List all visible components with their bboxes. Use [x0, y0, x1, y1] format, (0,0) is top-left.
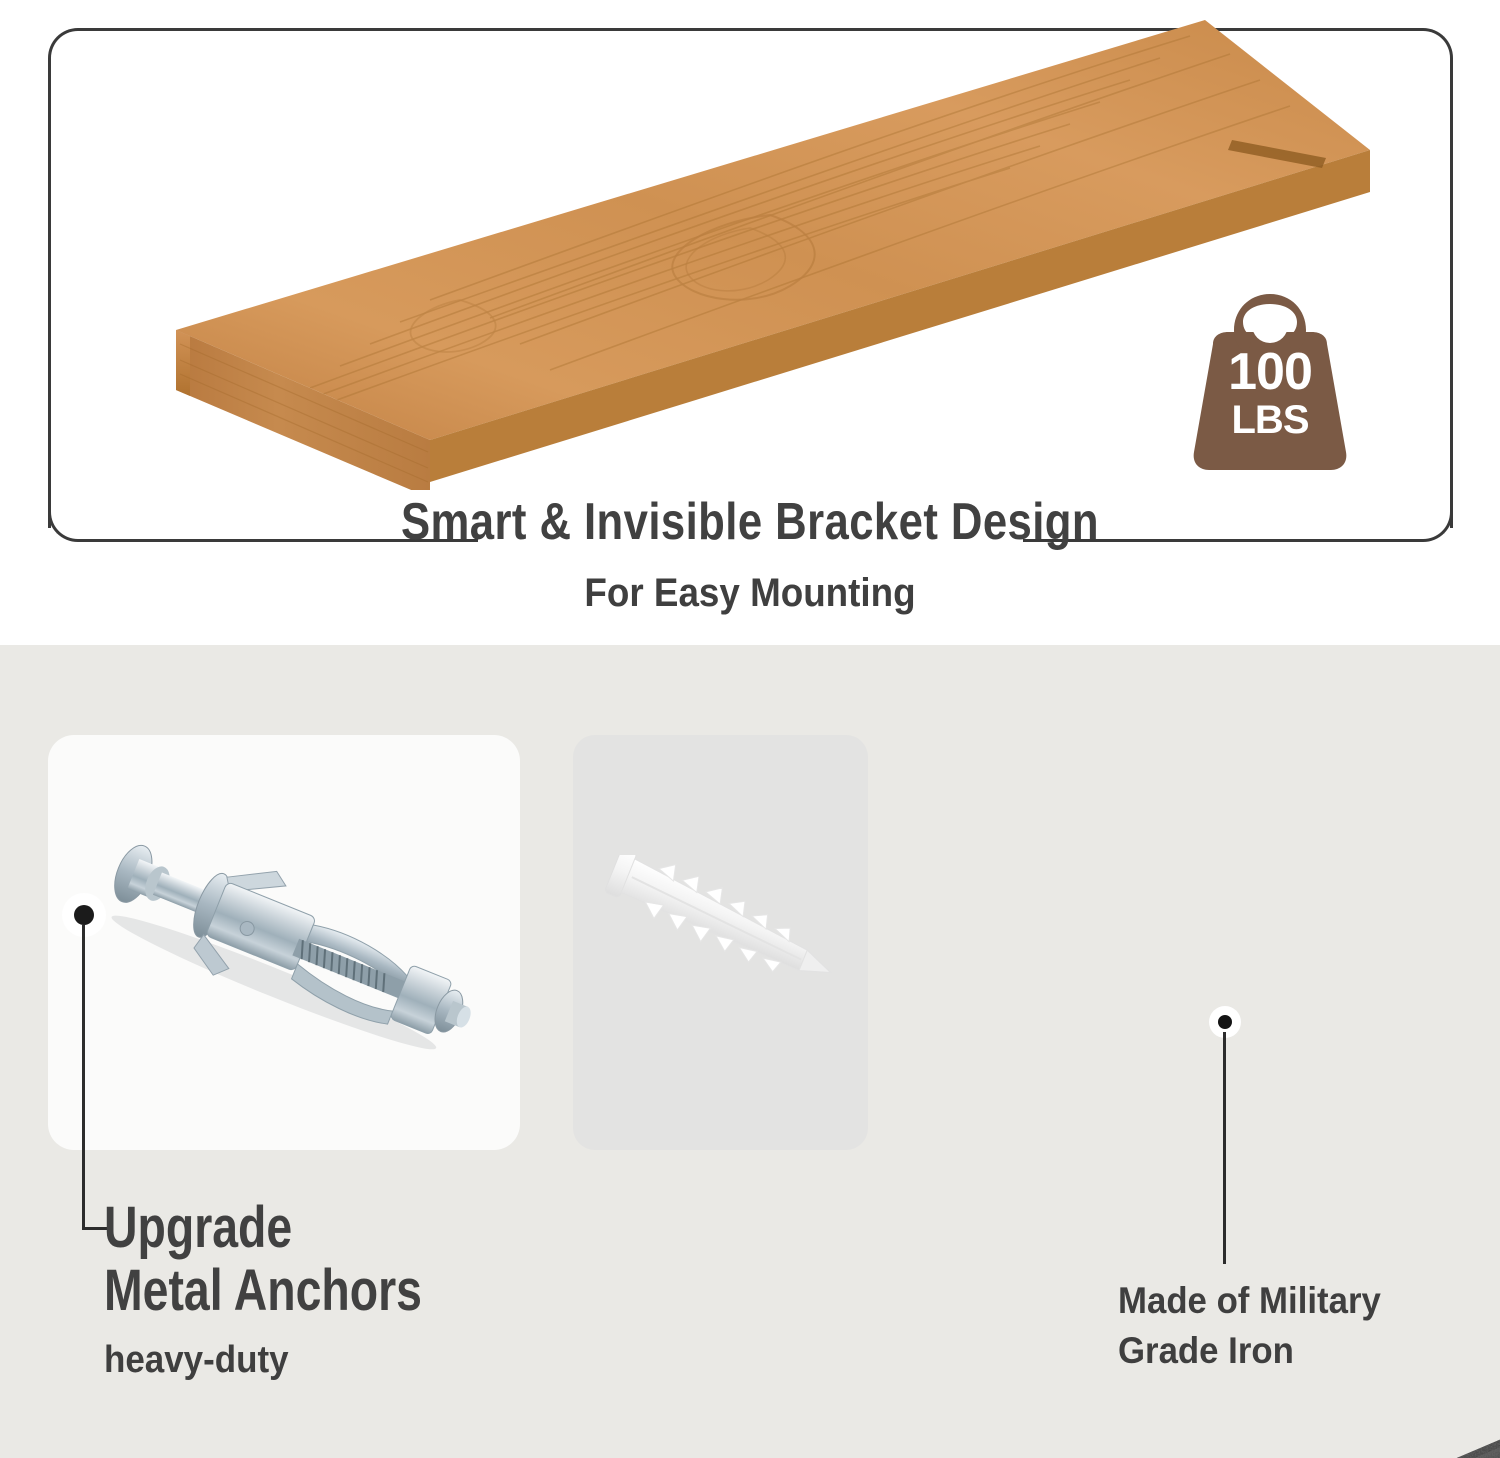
plastic-anchor-card	[573, 735, 868, 1150]
callout-ring-icon	[1218, 1015, 1232, 1029]
pipe-label-line2: Grade Iron	[1118, 1326, 1456, 1376]
page-title: Smart & Invisible Bracket Design	[120, 492, 1380, 552]
plastic-wall-plug-anchor-icon	[593, 855, 863, 1005]
metal-anchor-title-line2: Metal Anchors	[104, 1259, 552, 1322]
badge-weight-unit: LBS	[1170, 400, 1370, 440]
iron-pipe-illustration	[860, 1385, 1500, 1458]
badge-weight-value: 100	[1170, 346, 1370, 398]
metal-anchor-label: Upgrade Metal Anchors	[104, 1196, 664, 1322]
pipe-label-line1: Made of Military	[1118, 1276, 1456, 1326]
metal-expansion-anchor-icon	[72, 825, 502, 1075]
weight-capacity-badge: 100 LBS	[1170, 292, 1370, 472]
top-section: 100 LBS Smart & Invisible Bracket Design…	[0, 0, 1500, 645]
callout-dot-icon	[74, 905, 94, 925]
page-subtitle: For Easy Mounting	[60, 568, 1440, 618]
metal-anchor-card	[48, 735, 520, 1150]
metal-anchor-subtitle: heavy-duty	[104, 1338, 289, 1382]
product-feature-graphic: 100 LBS Smart & Invisible Bracket Design…	[0, 0, 1500, 1458]
metal-anchor-callout-line-vertical	[82, 925, 85, 1230]
metal-anchor-title-line1: Upgrade	[104, 1196, 552, 1259]
pipe-callout-line	[1223, 1032, 1226, 1264]
pipe-label: Made of Military Grade Iron	[1118, 1276, 1456, 1376]
